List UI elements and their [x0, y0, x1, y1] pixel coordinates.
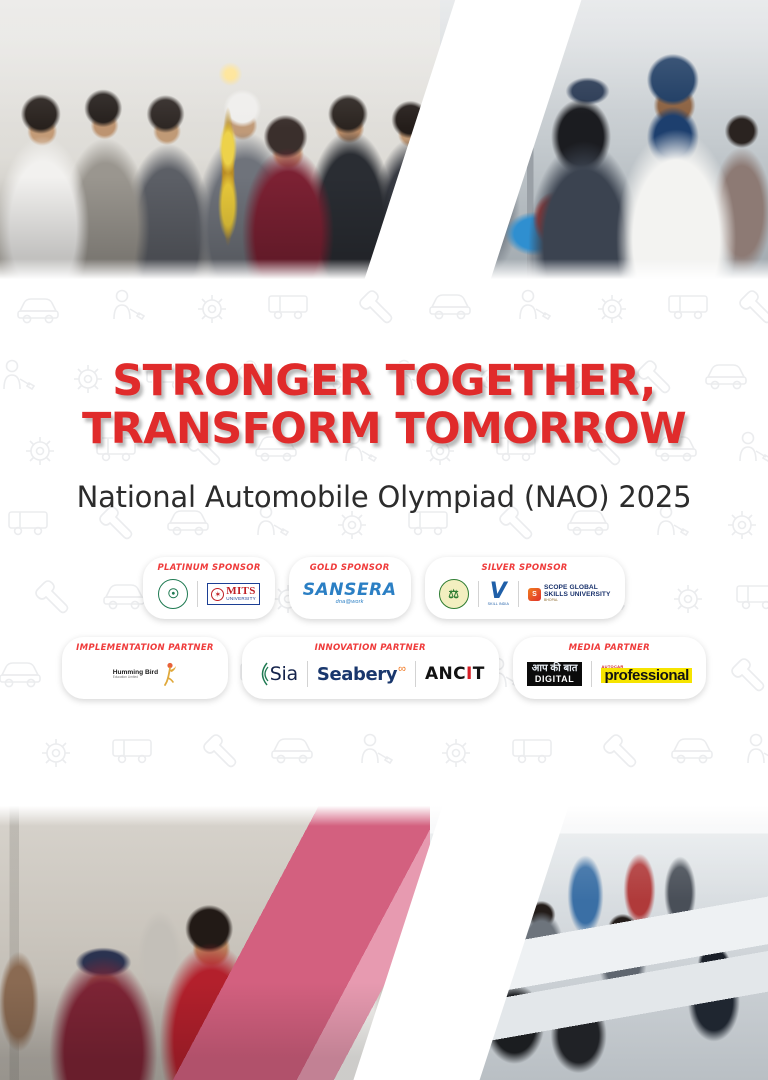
autocar-professional-logo: AUTOCAR professional: [601, 658, 691, 690]
ancit-title-i: I: [466, 664, 473, 684]
headline-block: STRONGER TOGETHER, TRANSFORM TOMORROW: [0, 357, 768, 453]
sansera-title: SANSERA: [303, 582, 397, 599]
pill-implementation-partner: IMPLEMENTATION PARTNER Humming Bird Educ…: [62, 637, 228, 699]
tier-label-media: MEDIA PARTNER: [569, 643, 650, 653]
sponsor-row-primary: PLATINUM SPONSOR ☉ ✶ MITS UNIVERSITY: [0, 557, 768, 619]
logo-divider: [415, 661, 416, 687]
v-skill-mark: V: [488, 581, 509, 603]
ancit-logo: ANCIT: [425, 658, 485, 690]
humming-bird-icon: [161, 662, 177, 686]
tier-label-implementation: IMPLEMENTATION PARTNER: [76, 643, 214, 653]
asdc-emblem-mark: ☉: [158, 579, 188, 609]
ancit-title-anc: ANC: [425, 664, 466, 684]
bottom-photo-band: [0, 800, 768, 1080]
sansera-logo: SANSERA dna@work: [303, 578, 397, 610]
humming-bird-subtitle: Education Limited: [113, 676, 158, 680]
tier-label-gold: GOLD SPONSOR: [310, 563, 390, 573]
event-subtitle: National Automobile Olympiad (NAO) 2025: [0, 480, 768, 514]
platinum-logo-group: ☉ ✶ MITS UNIVERSITY: [158, 577, 260, 611]
tier-label-innovation: INNOVATION PARTNER: [315, 643, 426, 653]
tier-label-platinum: PLATINUM SPONSOR: [157, 563, 260, 573]
top-photo-band: [0, 0, 768, 285]
logo-divider: [478, 581, 479, 607]
aap-ki-baat-title: आप की बात: [532, 664, 578, 675]
seabery-title: Seabery: [317, 664, 397, 685]
scope-subtitle: BHOPAL: [544, 599, 611, 603]
humming-bird-logo: Humming Bird Education Limited: [113, 658, 177, 690]
media-logo-group: आप की बात DIGITAL AUTOCAR professional: [527, 657, 692, 691]
seabery-infinity-icon: ∞: [398, 664, 406, 675]
gold-logo-group: SANSERA dna@work: [303, 577, 397, 611]
logo-divider: [307, 661, 308, 687]
headline-line-1: STRONGER TOGETHER,: [0, 357, 768, 405]
scope-global-skills-university-logo: S SCOPE GLOBAL SKILLS UNIVERSITY BHOPAL: [528, 578, 611, 610]
headline-line-2: TRANSFORM TOMORROW: [0, 405, 768, 453]
mits-university-logo: ✶ MITS UNIVERSITY: [207, 578, 260, 610]
mits-seal-icon: ✶: [211, 588, 224, 601]
pill-media-partner: MEDIA PARTNER आप की बात DIGITAL AUTOCAR …: [513, 637, 706, 699]
pill-platinum-sponsor: PLATINUM SPONSOR ☉ ✶ MITS UNIVERSITY: [143, 557, 274, 619]
implementation-logo-group: Humming Bird Education Limited: [113, 657, 177, 691]
logo-divider: [197, 581, 198, 607]
sansera-tagline: dna@work: [303, 600, 397, 606]
sponsor-row-partners: IMPLEMENTATION PARTNER Humming Bird Educ…: [0, 637, 768, 699]
autocar-professional-word: professional: [601, 668, 691, 683]
middle-content: STRONGER TOGETHER, TRANSFORM TOMORROW Na…: [0, 285, 768, 800]
seabery-logo: Seabery ∞: [317, 658, 406, 690]
logo-divider: [518, 581, 519, 607]
pill-innovation-partner: INNOVATION PARTNER Sia: [242, 637, 499, 699]
mits-subtitle: UNIVERSITY: [226, 597, 256, 602]
silver-logo-group: ⚖ V SKILL INDIA S SCOP: [439, 577, 611, 611]
innovation-logo-group: Sia Seabery ∞ ANCIT: [256, 657, 485, 691]
pill-gold-sponsor: GOLD SPONSOR SANSERA dna@work: [289, 557, 411, 619]
aap-ki-baat-subtitle: DIGITAL: [532, 675, 578, 684]
pill-silver-sponsor: SILVER SPONSOR ⚖ V SKILL INDIA: [425, 557, 625, 619]
sia-arc-icon: [256, 661, 269, 687]
asdc-emblem-logo: ☉: [158, 578, 188, 610]
ancit-title-t: T: [473, 664, 485, 684]
logo-divider: [591, 661, 592, 687]
poster-root: STRONGER TOGETHER, TRANSFORM TOMORROW Na…: [0, 0, 768, 1080]
government-seal-mark: ⚖: [439, 579, 469, 609]
tier-label-silver: SILVER SPONSOR: [481, 563, 567, 573]
sia-title: Sia: [270, 663, 298, 685]
v-skill-caption: SKILL INDIA: [488, 603, 509, 607]
government-seal-logo: ⚖: [439, 578, 469, 610]
v-skill-logo: V SKILL INDIA: [488, 578, 509, 610]
scope-mark-icon: S: [528, 588, 541, 601]
aap-ki-baat-digital-logo: आप की बात DIGITAL: [527, 658, 583, 690]
sia-logo: Sia: [256, 658, 298, 690]
